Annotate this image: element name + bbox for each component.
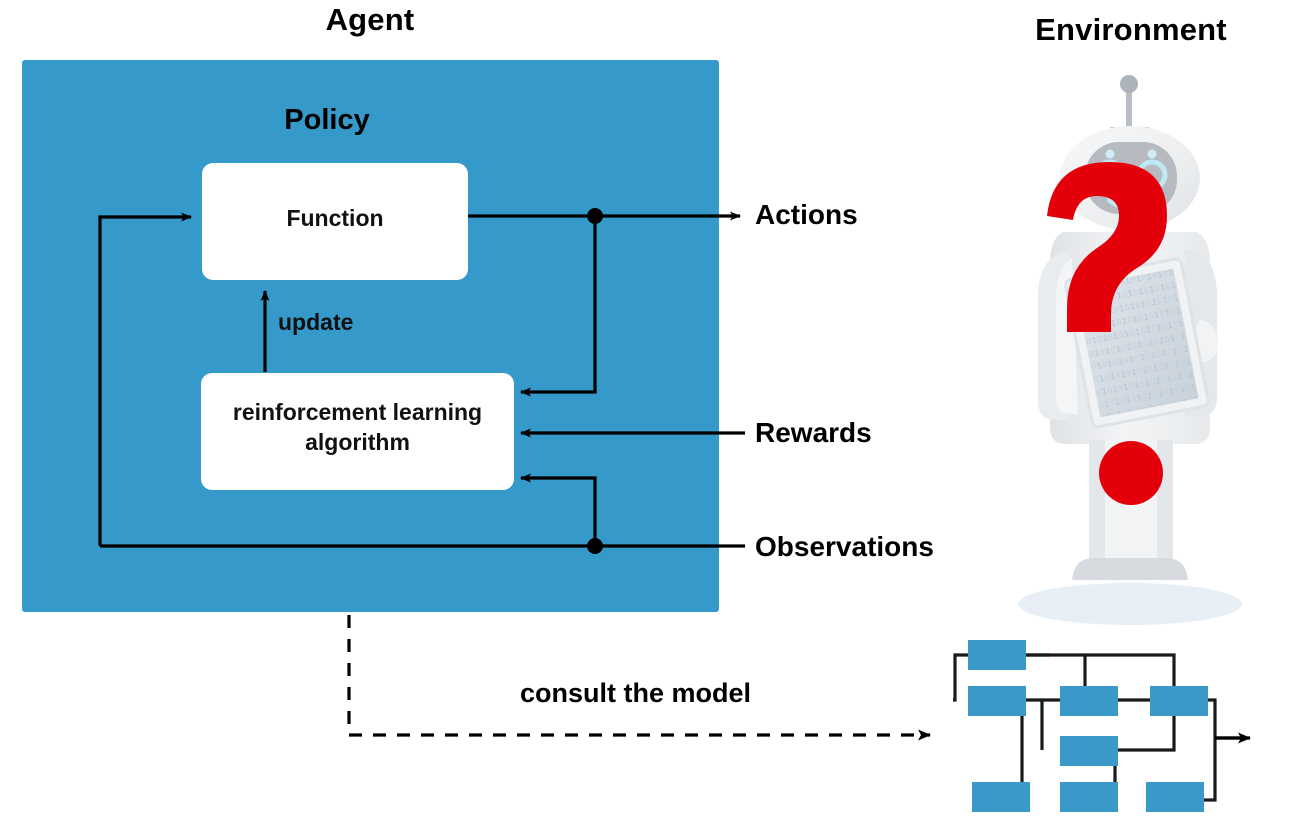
rl-algorithm-box-label: reinforcement learning algorithm bbox=[201, 397, 514, 457]
robot-icon bbox=[1018, 75, 1242, 625]
policy-title: Policy bbox=[22, 104, 632, 137]
agent-panel bbox=[22, 60, 719, 612]
network-node bbox=[1060, 686, 1118, 716]
observations-label: Observations bbox=[755, 531, 934, 563]
network-nodes bbox=[968, 640, 1208, 812]
network-node bbox=[1060, 782, 1118, 812]
consult-the-model-path bbox=[349, 615, 930, 735]
network-node bbox=[1150, 686, 1208, 716]
environment-title: Environment bbox=[960, 12, 1302, 48]
diagram-canvas: 1 0 bbox=[0, 0, 1302, 817]
consult-the-model-label: consult the model bbox=[520, 678, 751, 709]
network-node bbox=[1060, 736, 1118, 766]
actions-label: Actions bbox=[755, 199, 858, 231]
network-node bbox=[1146, 782, 1204, 812]
update-label: update bbox=[278, 309, 353, 336]
robot-red-dot bbox=[1099, 441, 1163, 505]
function-box-label: Function bbox=[202, 205, 468, 232]
network-node bbox=[968, 686, 1026, 716]
observations-junction-dot bbox=[587, 538, 603, 554]
network-graph-icon bbox=[953, 640, 1250, 812]
rewards-label: Rewards bbox=[755, 417, 872, 449]
agent-title: Agent bbox=[0, 2, 740, 38]
network-node bbox=[968, 640, 1026, 670]
actions-junction-dot bbox=[587, 208, 603, 224]
network-node bbox=[972, 782, 1030, 812]
robot-shadow bbox=[1018, 583, 1242, 625]
